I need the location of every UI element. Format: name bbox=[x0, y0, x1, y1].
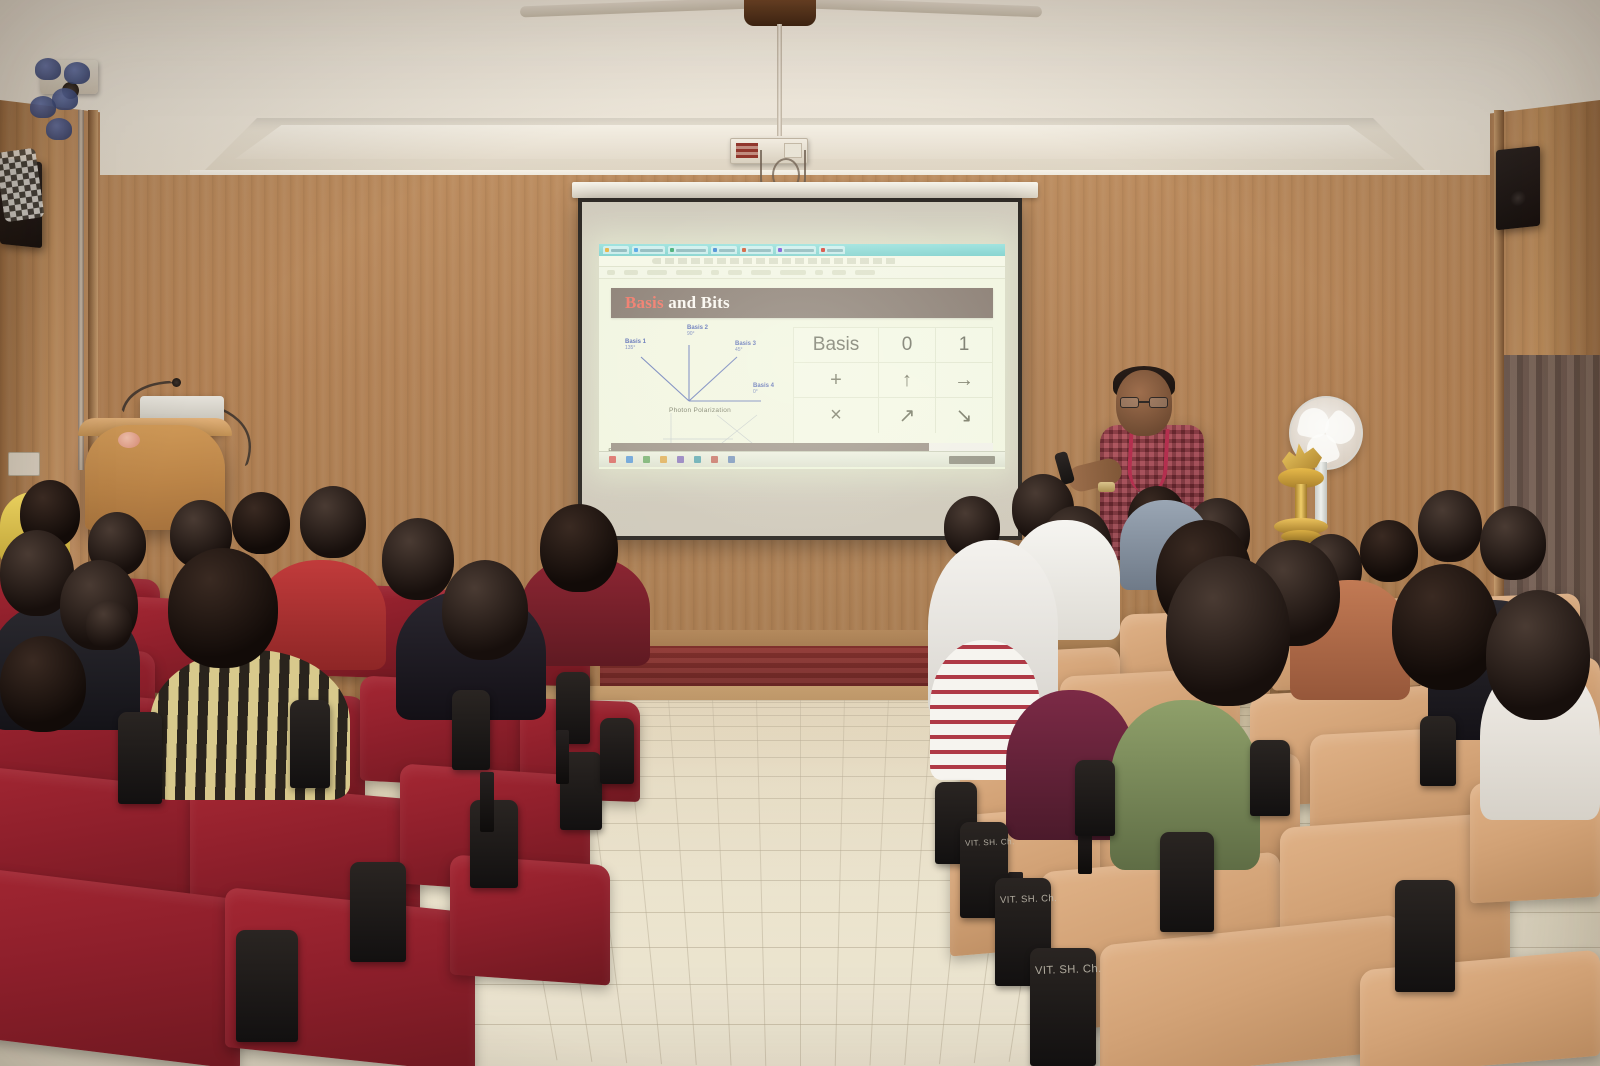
chair-armrest bbox=[236, 930, 298, 1042]
presentation-slide: Basis and Bits bbox=[599, 279, 1005, 451]
chair-armrest bbox=[600, 718, 634, 784]
ceiling-fan-downrod bbox=[777, 24, 782, 136]
chair-armrest bbox=[290, 700, 330, 788]
stage-carpet-runner bbox=[600, 646, 960, 688]
tab-title-blur bbox=[719, 249, 735, 252]
projection-screen: Basis and Bits bbox=[578, 198, 1022, 540]
basis-label-1: Basis 1 135° bbox=[625, 339, 646, 351]
audience-head bbox=[1480, 506, 1546, 580]
ribbon-control[interactable] bbox=[647, 270, 667, 275]
headscarf-floral-motif bbox=[30, 96, 56, 118]
audience-head bbox=[1392, 564, 1498, 690]
basis-label-3: Basis 3 45° bbox=[735, 341, 756, 353]
app-ribbon-toolbar[interactable] bbox=[599, 267, 1005, 279]
tab-title-blur bbox=[676, 249, 706, 252]
ribbon-control[interactable] bbox=[728, 270, 742, 275]
browser-tab[interactable] bbox=[711, 246, 737, 254]
ribbon-control[interactable] bbox=[751, 270, 771, 275]
table-cell-basis-row1: + bbox=[794, 363, 879, 398]
audience-head bbox=[540, 504, 618, 592]
slide-title-basis: Basis bbox=[625, 293, 664, 312]
podium-emblem bbox=[118, 432, 140, 448]
chair-armrest bbox=[470, 800, 518, 888]
chair-armrest bbox=[1075, 760, 1115, 836]
ribbon-control[interactable] bbox=[624, 270, 638, 275]
tab-favicon-icon bbox=[670, 248, 674, 252]
slide-title-and-bits: and Bits bbox=[664, 293, 730, 312]
table-header-bit-1: 1 bbox=[936, 328, 992, 363]
tab-title-blur bbox=[611, 249, 627, 252]
lamp-stem bbox=[1295, 484, 1307, 522]
basis-label-4: Basis 4 0° bbox=[753, 383, 774, 395]
screen-housing bbox=[572, 182, 1038, 198]
audience-head bbox=[1418, 490, 1482, 562]
browser-tab[interactable] bbox=[632, 246, 665, 254]
wall-socket bbox=[8, 452, 40, 476]
presenter-lanyard bbox=[1126, 427, 1169, 493]
taskbar-icon[interactable] bbox=[677, 456, 684, 463]
ceiling-fan-hub bbox=[744, 0, 816, 26]
ribbon-control[interactable] bbox=[711, 270, 719, 275]
tab-title-blur bbox=[640, 249, 663, 252]
taskbar-clock bbox=[949, 456, 995, 464]
ribbon-control[interactable] bbox=[815, 270, 823, 275]
ribbon-control[interactable] bbox=[780, 270, 806, 275]
audience-head bbox=[442, 560, 528, 660]
taskbar-icon[interactable] bbox=[643, 456, 650, 463]
junction-box-terminal bbox=[736, 143, 758, 158]
table-cell-basis-row2: × bbox=[794, 398, 879, 433]
ribbon-control[interactable] bbox=[855, 270, 875, 275]
taskbar-icon[interactable] bbox=[711, 456, 718, 463]
slide-title-banner: Basis and Bits bbox=[611, 288, 993, 318]
chair-armrest bbox=[1420, 716, 1456, 786]
microphone-head-left bbox=[172, 378, 181, 387]
browser-tab[interactable] bbox=[819, 246, 845, 254]
chair-property-label: VIT. SH. Ch. bbox=[1035, 963, 1102, 977]
ribbon-control[interactable] bbox=[676, 270, 702, 275]
windows-taskbar[interactable] bbox=[599, 451, 1005, 467]
brass-oil-lamp bbox=[1272, 424, 1330, 552]
table-header-basis: Basis bbox=[794, 328, 879, 363]
chair-armrest bbox=[350, 862, 406, 962]
browser-tabstrip bbox=[599, 244, 1005, 256]
photon-polarization-diagram: Basis 1 135° Basis 2 90° Basis 3 45° bbox=[611, 327, 789, 452]
browser-url-bar[interactable] bbox=[599, 256, 1005, 267]
slide-body: Basis 1 135° Basis 2 90° Basis 3 45° bbox=[611, 327, 993, 452]
taskbar-icon[interactable] bbox=[728, 456, 735, 463]
basis-bits-table: Basis01+↑→×↗↘ bbox=[793, 327, 993, 452]
ribbon-control[interactable] bbox=[607, 270, 615, 275]
tab-favicon-icon bbox=[742, 248, 746, 252]
taskbar-icon[interactable] bbox=[660, 456, 667, 463]
table-header-row: Basis01 bbox=[794, 328, 992, 363]
headscarf-floral-motif bbox=[64, 62, 90, 84]
audience-head bbox=[1486, 590, 1590, 720]
url-text-blur bbox=[652, 258, 896, 264]
taskbar-icon[interactable] bbox=[609, 456, 616, 463]
browser-tab[interactable] bbox=[776, 246, 816, 254]
chair-armrest bbox=[1395, 880, 1455, 992]
chair-armrest bbox=[1160, 832, 1214, 932]
basis-label-2: Basis 2 90° bbox=[687, 325, 708, 337]
speaker-cone-icon bbox=[1510, 189, 1526, 207]
table-cell-zero-row2: ↗ bbox=[879, 398, 936, 433]
table-row: ×↗↘ bbox=[794, 398, 992, 433]
wall-speaker-right bbox=[1496, 146, 1540, 231]
browser-tab[interactable] bbox=[603, 246, 629, 254]
chair-property-label: VIT. SH. Ch. bbox=[1000, 893, 1058, 906]
presenter-glasses-icon bbox=[1120, 397, 1168, 408]
table-row: +↑→ bbox=[794, 363, 992, 398]
audience-head bbox=[1360, 520, 1418, 582]
audience-head bbox=[1166, 556, 1290, 706]
headscarf-floral-motif bbox=[35, 58, 61, 80]
tab-title-blur bbox=[827, 249, 843, 252]
table-header-bit-0: 0 bbox=[879, 328, 936, 363]
chair-armrest bbox=[118, 712, 162, 804]
taskbar-icon[interactable] bbox=[694, 456, 701, 463]
tab-favicon-icon bbox=[821, 248, 825, 252]
table-cell-zero-row1: ↑ bbox=[879, 363, 936, 398]
audience-head bbox=[0, 636, 86, 732]
diagram-caption: Photon Polarization bbox=[611, 407, 789, 414]
headscarf-floral-motif bbox=[46, 118, 72, 140]
audience-head bbox=[232, 492, 290, 554]
browser-tab[interactable] bbox=[740, 246, 773, 254]
chair-arm-stem bbox=[480, 772, 494, 832]
tab-favicon-icon bbox=[605, 248, 609, 252]
tab-title-blur bbox=[748, 249, 771, 252]
tab-title-blur bbox=[784, 249, 814, 252]
projected-desktop: Basis and Bits bbox=[599, 244, 1005, 469]
audience-head bbox=[300, 486, 366, 558]
chair-armrest bbox=[1250, 740, 1290, 816]
table-cell-one-row2: ↘ bbox=[936, 398, 992, 433]
chair-arm-stem bbox=[556, 730, 569, 784]
chair-property-label: VIT. SH. Ch. bbox=[965, 837, 1015, 848]
ceiling-cove-inner bbox=[235, 125, 1395, 159]
chair-armrest bbox=[452, 690, 490, 770]
auditorium-photo: Basis and Bits bbox=[0, 0, 1600, 1066]
audience-head bbox=[382, 518, 454, 600]
presenter-wristwatch bbox=[1098, 482, 1115, 492]
slide-title: Basis and Bits bbox=[625, 293, 730, 313]
table-cell-one-row1: → bbox=[936, 363, 992, 398]
audience-head bbox=[86, 600, 132, 650]
tab-favicon-icon bbox=[713, 248, 717, 252]
tab-favicon-icon bbox=[778, 248, 782, 252]
ribbon-control[interactable] bbox=[832, 270, 846, 275]
tab-favicon-icon bbox=[634, 248, 638, 252]
taskbar-icon[interactable] bbox=[626, 456, 633, 463]
screen-surface: Basis and Bits bbox=[582, 202, 1018, 536]
audience-head bbox=[168, 548, 278, 668]
wall-conduit bbox=[78, 110, 84, 470]
browser-tab[interactable] bbox=[668, 246, 708, 254]
